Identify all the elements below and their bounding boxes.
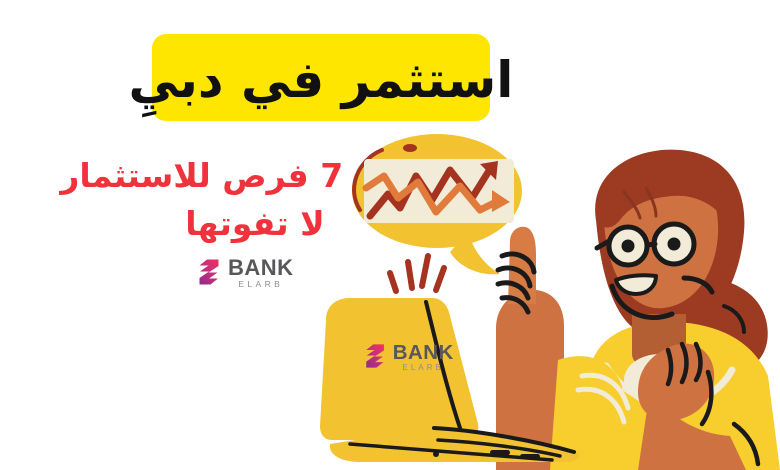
logo-name: BANK	[228, 258, 294, 278]
laptop-brand-logo: BANK ELARB	[363, 343, 454, 373]
speech-bubble-icon	[352, 134, 522, 274]
laptop-logo-name: BANK	[393, 343, 454, 362]
laptop-logo-tagline: ELARB	[393, 363, 454, 373]
bank-elarb-s-mark-laptop-icon	[363, 343, 387, 373]
logo-tagline: ELARB	[228, 279, 294, 290]
brand-logo: BANK ELARB	[196, 258, 294, 290]
laptop-logo-wordmark: BANK ELARB	[393, 343, 454, 373]
logo-wordmark: BANK ELARB	[228, 258, 294, 290]
bank-elarb-s-mark-icon	[196, 258, 222, 290]
poster-canvas: استثمر في دبيِ افضل 7 فرص للاستثمار لا ت…	[0, 0, 780, 470]
motion-lines-icon	[390, 256, 444, 291]
headline-banner: استثمر في دبيِ	[152, 34, 490, 121]
illustration-artwork	[320, 128, 780, 470]
headline-text: استثمر في دبيِ	[129, 55, 514, 105]
